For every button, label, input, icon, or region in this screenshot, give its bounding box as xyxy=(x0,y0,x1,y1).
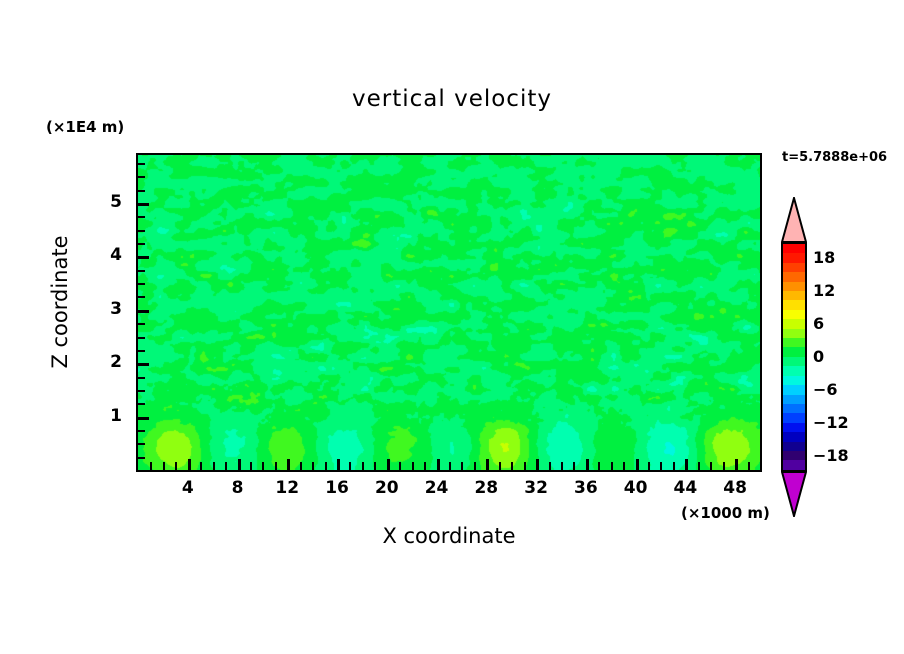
colorbar-band xyxy=(783,253,805,262)
colorbar-tick-label: 18 xyxy=(813,248,835,267)
x-axis-minor-tick xyxy=(524,462,526,470)
y-axis-tick-label: 4 xyxy=(96,245,122,265)
colorbar-band xyxy=(783,319,805,328)
x-axis-major-tick xyxy=(337,459,340,470)
colorbar-band xyxy=(783,347,805,356)
x-axis-minor-tick xyxy=(611,462,613,470)
x-axis-major-tick xyxy=(536,459,539,470)
colorbar-band xyxy=(783,395,805,404)
x-axis-minor-tick xyxy=(200,462,202,470)
x-axis-major-tick xyxy=(586,459,589,470)
y-axis-minor-tick xyxy=(138,283,145,285)
x-axis-minor-tick xyxy=(623,462,625,470)
x-axis-minor-tick xyxy=(325,462,327,470)
x-axis-minor-tick xyxy=(648,462,650,470)
x-axis-minor-tick xyxy=(150,462,152,470)
colorbar-band xyxy=(783,329,805,338)
y-axis-minor-tick xyxy=(138,337,145,339)
colorbar-band xyxy=(783,291,805,300)
x-axis-tick-label: 40 xyxy=(616,478,656,498)
x-axis-major-tick xyxy=(735,459,738,470)
x-axis-tick-label: 20 xyxy=(367,478,407,498)
y-axis-minor-tick xyxy=(138,430,145,432)
x-axis-minor-tick xyxy=(449,462,451,470)
x-axis-minor-tick xyxy=(549,462,551,470)
x-axis-minor-tick xyxy=(374,462,376,470)
colorbar-top-arrow-icon xyxy=(781,197,807,243)
y-axis-minor-tick xyxy=(138,270,145,272)
y-axis-minor-tick xyxy=(138,457,145,459)
y-axis-major-tick xyxy=(138,417,149,420)
x-axis-minor-tick xyxy=(660,462,662,470)
contour-plot-area xyxy=(136,153,762,472)
x-axis-minor-tick xyxy=(412,462,414,470)
x-axis-minor-tick xyxy=(362,462,364,470)
plot-title-text: vertical velocity xyxy=(352,86,552,112)
y-axis-title: Z coordinate xyxy=(48,202,72,402)
y-axis-tick-label: 2 xyxy=(96,352,122,372)
colorbar-tick-label: −6 xyxy=(813,380,838,399)
y-axis-minor-tick xyxy=(138,296,145,298)
y-axis-minor-tick xyxy=(138,243,145,245)
colorbar-band xyxy=(783,263,805,272)
colorbar-band xyxy=(783,413,805,422)
colorbar-band xyxy=(783,460,805,469)
timestamp-annotation: t=5.7888e+06 xyxy=(782,150,887,165)
x-axis-minor-tick xyxy=(710,462,712,470)
colorbar-band xyxy=(783,357,805,366)
x-axis-minor-tick xyxy=(262,462,264,470)
x-axis-minor-tick xyxy=(399,462,401,470)
y-axis-major-tick xyxy=(138,256,149,259)
colorbar-band xyxy=(783,376,805,385)
x-axis-title: X coordinate xyxy=(249,524,649,548)
x-axis-minor-tick xyxy=(349,462,351,470)
x-axis-tick-label: 24 xyxy=(417,478,457,498)
x-axis-minor-tick xyxy=(748,462,750,470)
x-axis-minor-tick xyxy=(175,462,177,470)
colorbar-band xyxy=(783,310,805,319)
colorbar-band xyxy=(783,451,805,460)
x-axis-tick-label: 4 xyxy=(168,478,208,498)
x-axis-minor-tick xyxy=(250,462,252,470)
y-axis-minor-tick xyxy=(138,230,145,232)
y-axis-minor-tick xyxy=(138,216,145,218)
colorbar-tick-label: 0 xyxy=(813,347,824,366)
colorbar-band xyxy=(783,385,805,394)
x-axis-minor-tick xyxy=(312,462,314,470)
colorbar-band xyxy=(783,404,805,413)
colorbar-band xyxy=(783,423,805,432)
x-axis-major-tick xyxy=(636,459,639,470)
x-axis-minor-tick xyxy=(673,462,675,470)
x-axis-minor-tick xyxy=(213,462,215,470)
x-axis-minor-tick xyxy=(561,462,563,470)
colorbar-bands xyxy=(781,242,807,472)
y-axis-minor-tick xyxy=(138,190,145,192)
x-axis-minor-tick xyxy=(499,462,501,470)
x-axis-tick-label: 16 xyxy=(317,478,357,498)
y-axis-tick-label: 1 xyxy=(96,406,122,426)
colorbar-band xyxy=(783,338,805,347)
x-axis-tick-label: 8 xyxy=(218,478,258,498)
y-axis-minor-tick xyxy=(138,323,145,325)
y-axis-minor-tick xyxy=(138,390,145,392)
colorbar-tick-label: −18 xyxy=(813,446,849,465)
x-axis-major-tick xyxy=(685,459,688,470)
y-axis-minor-tick xyxy=(138,163,145,165)
x-axis-tick-label: 36 xyxy=(566,478,606,498)
colorbar-band xyxy=(783,300,805,309)
y-axis-major-tick xyxy=(138,203,149,206)
x-axis-unit-label: (×1000 m) xyxy=(681,504,770,522)
x-axis-tick-label: 44 xyxy=(665,478,705,498)
x-axis-minor-tick xyxy=(424,462,426,470)
colorbar: 181260−6−12−18 xyxy=(781,197,807,517)
y-axis-tick-label: 3 xyxy=(96,299,122,319)
x-axis-major-tick xyxy=(437,459,440,470)
x-axis-minor-tick xyxy=(598,462,600,470)
x-axis-minor-tick xyxy=(698,462,700,470)
colorbar-band xyxy=(783,432,805,441)
x-axis-minor-tick xyxy=(723,462,725,470)
x-axis-minor-tick xyxy=(511,462,513,470)
x-axis-tick-label: 48 xyxy=(715,478,755,498)
x-axis-minor-tick xyxy=(461,462,463,470)
y-axis-minor-tick xyxy=(138,176,145,178)
x-axis-major-tick xyxy=(287,459,290,470)
y-axis-minor-tick xyxy=(138,377,145,379)
contour-field xyxy=(138,155,760,470)
colorbar-cap-bottom xyxy=(781,471,807,517)
colorbar-band xyxy=(783,366,805,375)
colorbar-band xyxy=(783,244,805,253)
colorbar-tick-label: 12 xyxy=(813,281,835,300)
colorbar-cap-top xyxy=(781,197,807,243)
x-axis-tick-label: 32 xyxy=(516,478,556,498)
y-axis-unit-label: (×1E4 m) xyxy=(46,118,124,136)
colorbar-band xyxy=(783,282,805,291)
y-axis-minor-tick xyxy=(138,443,145,445)
y-axis-major-tick xyxy=(138,363,149,366)
x-axis-minor-tick xyxy=(225,462,227,470)
y-axis-minor-tick xyxy=(138,403,145,405)
x-axis-minor-tick xyxy=(573,462,575,470)
x-axis-major-tick xyxy=(387,459,390,470)
colorbar-tick-label: 6 xyxy=(813,314,824,333)
x-axis-major-tick xyxy=(238,459,241,470)
x-axis-major-tick xyxy=(486,459,489,470)
colorbar-band xyxy=(783,442,805,451)
x-axis-minor-tick xyxy=(275,462,277,470)
y-axis-tick-label: 5 xyxy=(96,192,122,212)
y-axis-major-tick xyxy=(138,310,149,313)
colorbar-tick-label: −12 xyxy=(813,413,849,432)
y-axis-minor-tick xyxy=(138,350,145,352)
x-axis-minor-tick xyxy=(474,462,476,470)
x-axis-minor-tick xyxy=(163,462,165,470)
x-axis-minor-tick xyxy=(300,462,302,470)
x-axis-tick-label: 28 xyxy=(466,478,506,498)
x-axis-tick-label: 12 xyxy=(267,478,307,498)
colorbar-band xyxy=(783,272,805,281)
x-axis-major-tick xyxy=(188,459,191,470)
page-title: vertical velocity xyxy=(0,86,904,112)
colorbar-bottom-arrow-icon xyxy=(781,471,807,517)
